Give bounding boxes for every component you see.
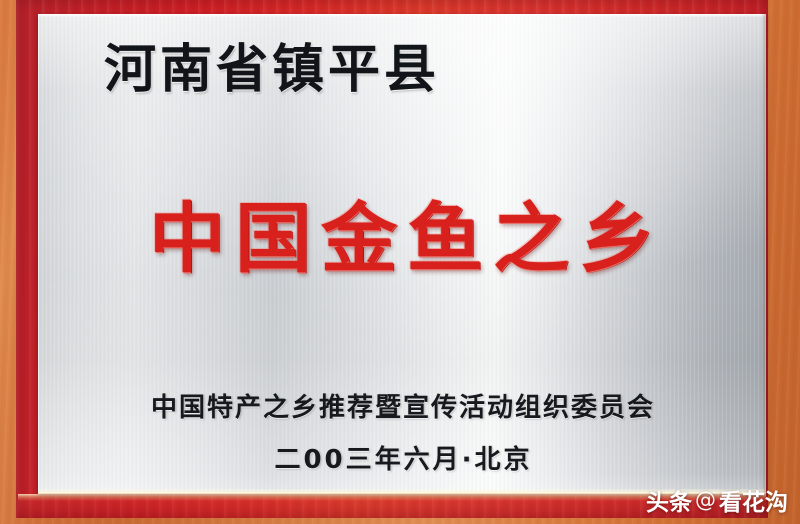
watermark-at-icon: @	[695, 488, 716, 512]
plaque-issuing-committee: 中国特产之乡推荐暨宣传活动组织委员会	[38, 393, 766, 424]
watermark-account: 看花沟	[719, 483, 788, 517]
plaque-main-title: 中国金鱼之乡	[38, 199, 766, 279]
plaque-heading: 河南省镇平县	[104, 39, 440, 100]
watermark-source: 头条	[646, 483, 692, 517]
plaque-text-layer: 河南省镇平县 中国金鱼之乡 中国特产之乡推荐暨宣传活动组织委员会 二00三年六月…	[38, 14, 766, 493]
plaque-photo: 河南省镇平县 中国金鱼之乡 中国特产之乡推荐暨宣传活动组织委员会 二00三年六月…	[0, 0, 800, 524]
plaque-date-and-place: 二00三年六月·北京	[38, 445, 766, 476]
watermark: 头条 @ 看花沟	[646, 483, 788, 517]
